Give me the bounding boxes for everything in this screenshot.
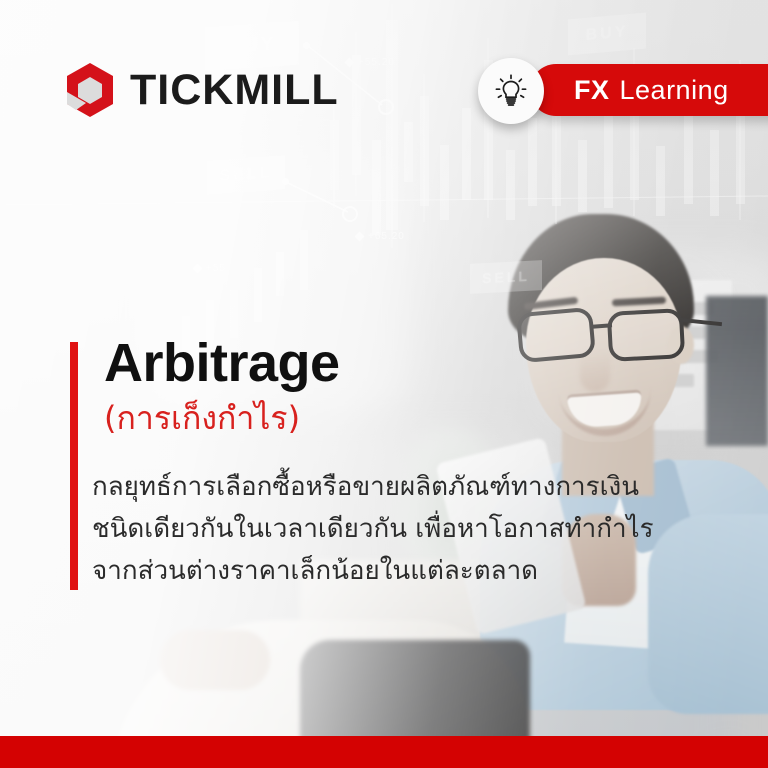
badge-label: FX Learning — [574, 64, 768, 116]
description-text: กลยุทธ์การเลือกซื้อหรือขายผลิตภัณฑ์ทางกา… — [92, 466, 712, 592]
social-card: BUY BUY SELL SELL +55.20 +65.20 +55 TICK… — [0, 0, 768, 768]
red-accent-bar — [70, 342, 78, 590]
page-title: Arbitrage — [104, 336, 340, 390]
tickmill-wordmark: TICKMILL — [130, 69, 339, 112]
badge-icon-circle — [478, 58, 544, 124]
description-line: ชนิดเดียวกันในเวลาเดียวกัน เพื่อหาโอกาสท… — [92, 508, 712, 550]
bottom-red-bar — [0, 736, 768, 768]
lightbulb-icon — [491, 71, 531, 111]
tickmill-logo[interactable]: TICKMILL — [64, 62, 339, 118]
description-line: กลยุทธ์การเลือกซื้อหรือขายผลิตภัณฑ์ทางกา… — [92, 466, 712, 508]
page-subtitle: (การเก็งกำไร) — [104, 398, 300, 438]
description-line: จากส่วนต่างราคาเล็กน้อยในแต่ละตลาด — [92, 550, 712, 592]
badge-word: Learning — [620, 75, 729, 106]
tickmill-hexagon-logo-icon — [64, 62, 116, 118]
badge-prefix: FX — [574, 75, 610, 106]
